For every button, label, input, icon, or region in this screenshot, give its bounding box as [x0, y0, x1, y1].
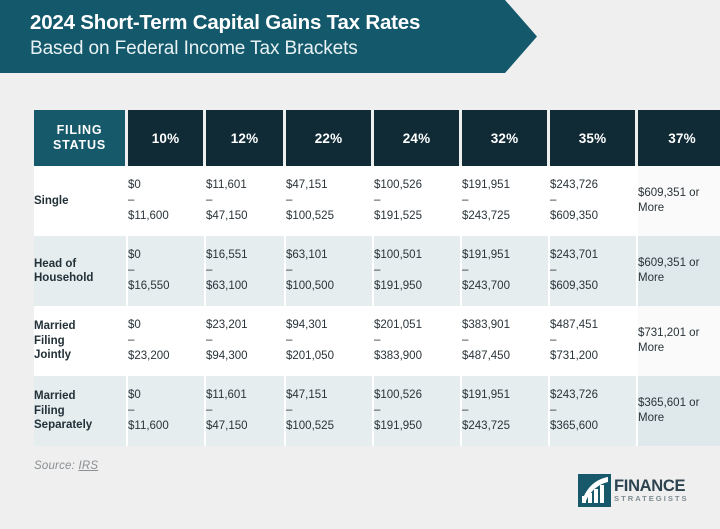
cell-mfs-22: $47,151 – $100,525 [286, 376, 374, 446]
range-low: $487,451 [550, 318, 636, 334]
table-row: Single $0 – $11,600 $11,601 – $47,150 $4… [34, 166, 720, 236]
range-dash: – [128, 193, 204, 209]
range-high: $47,150 [206, 419, 284, 435]
range-low: $63,101 [286, 248, 372, 264]
range-dash: – [286, 403, 372, 419]
column-header-rate-35: 35% [550, 110, 638, 166]
range-dash: – [550, 333, 636, 349]
cell-hoh-32: $191,951 – $243,700 [462, 236, 550, 306]
cell-single-24: $100,526 – $191,525 [374, 166, 462, 236]
range-dash: – [550, 193, 636, 209]
range-low: $243,726 [550, 178, 636, 194]
range-dash: – [374, 263, 460, 279]
range-low: $100,526 [374, 178, 460, 194]
range-high: $11,600 [128, 419, 204, 435]
cell-hoh-24: $100,501 – $191,950 [374, 236, 462, 306]
range-dash: – [550, 263, 636, 279]
logo-wordmark: FINANCE STRATEGISTS [614, 478, 689, 503]
range-high: $243,725 [462, 209, 548, 225]
source-link-irs[interactable]: IRS [78, 460, 98, 472]
range-high: $609,350 [550, 279, 636, 295]
range-high: $191,525 [374, 209, 460, 225]
range-low: $100,526 [374, 388, 460, 404]
header-row: FILING STATUS 10% 12% 22% 24% 32% 35% 37… [34, 110, 720, 166]
range-dash: – [286, 333, 372, 349]
range-high: $609,350 [550, 209, 636, 225]
range-low: $383,901 [462, 318, 548, 334]
table-body: Single $0 – $11,600 $11,601 – $47,150 $4… [34, 166, 720, 446]
table-row: Married Filing Separately $0 – $11,600 $… [34, 376, 720, 446]
range-low: $243,701 [550, 248, 636, 264]
table-row: Head of Household $0 – $16,550 $16,551 –… [34, 236, 720, 306]
cell-single-10: $0 – $11,600 [128, 166, 206, 236]
logo-mark-icon [578, 474, 611, 507]
cell-mfj-32: $383,901 – $487,450 [462, 306, 550, 376]
range-low: $191,951 [462, 388, 548, 404]
range-high: $191,950 [374, 419, 460, 435]
cell-mfj-37: $731,201 or More [638, 306, 720, 376]
page-title: 2024 Short-Term Capital Gains Tax Rates [30, 9, 540, 36]
row-label-line: Separately [34, 419, 92, 431]
range-low: $0 [128, 318, 204, 334]
range-high: $487,450 [462, 349, 548, 365]
cell-mfj-12: $23,201 – $94,300 [206, 306, 286, 376]
range-low: $11,601 [206, 178, 284, 194]
range-high: $365,600 [550, 419, 636, 435]
range-dash: – [206, 193, 284, 209]
range-low: $0 [128, 388, 204, 404]
cell-mfj-22: $94,301 – $201,050 [286, 306, 374, 376]
source-note: Source: IRS [34, 460, 98, 472]
row-label-line: Married [34, 320, 76, 332]
cell-single-22: $47,151 – $100,525 [286, 166, 374, 236]
logo-word-strategists: STRATEGISTS [614, 495, 689, 503]
table-header: FILING STATUS 10% 12% 22% 24% 32% 35% 37… [34, 110, 720, 166]
top-bracket-amount: $609,351 [638, 187, 686, 199]
row-label-line: Filing [34, 335, 65, 347]
column-header-rate-24: 24% [374, 110, 462, 166]
column-header-filing-status: FILING STATUS [34, 110, 128, 166]
range-high: $191,950 [374, 279, 460, 295]
top-bracket-amount: $731,201 [638, 327, 686, 339]
range-high: $243,725 [462, 419, 548, 435]
range-dash: – [128, 263, 204, 279]
cell-hoh-12: $16,551 – $63,100 [206, 236, 286, 306]
cell-mfj-10: $0 – $23,200 [128, 306, 206, 376]
range-high: $243,700 [462, 279, 548, 295]
row-label-line: Household [34, 272, 93, 284]
range-low: $191,951 [462, 178, 548, 194]
range-low: $11,601 [206, 388, 284, 404]
page-subtitle: Based on Federal Income Tax Brackets [30, 36, 540, 62]
column-header-rate-32: 32% [462, 110, 550, 166]
row-label-line: Head of [34, 258, 76, 270]
range-low: $191,951 [462, 248, 548, 264]
source-prefix: Source: [34, 460, 78, 472]
cell-mfs-37: $365,601 or More [638, 376, 720, 446]
range-high: $11,600 [128, 209, 204, 225]
range-low: $47,151 [286, 388, 372, 404]
row-label-line: Single [34, 195, 69, 207]
range-high: $100,525 [286, 419, 372, 435]
top-bracket-amount: $365,601 [638, 397, 686, 409]
tax-rate-table-wrapper: FILING STATUS 10% 12% 22% 24% 32% 35% 37… [34, 110, 686, 446]
range-dash: – [550, 403, 636, 419]
range-high: $383,900 [374, 349, 460, 365]
cell-single-32: $191,951 – $243,725 [462, 166, 550, 236]
cell-mfj-24: $201,051 – $383,900 [374, 306, 462, 376]
range-low: $94,301 [286, 318, 372, 334]
range-low: $0 [128, 178, 204, 194]
range-low: $23,201 [206, 318, 284, 334]
range-high: $16,550 [128, 279, 204, 295]
row-label-line: Jointly [34, 349, 71, 361]
infographic-page: 2024 Short-Term Capital Gains Tax Rates … [0, 0, 720, 529]
row-label-line: Filing [34, 405, 65, 417]
range-dash: – [206, 263, 284, 279]
range-low: $47,151 [286, 178, 372, 194]
range-dash: – [128, 403, 204, 419]
cell-mfs-24: $100,526 – $191,950 [374, 376, 462, 446]
range-dash: – [286, 263, 372, 279]
cell-single-12: $11,601 – $47,150 [206, 166, 286, 236]
cell-single-37: $609,351 or More [638, 166, 720, 236]
column-header-rate-10: 10% [128, 110, 206, 166]
cell-mfj-35: $487,451 – $731,200 [550, 306, 638, 376]
range-low: $243,726 [550, 388, 636, 404]
column-header-rate-12: 12% [206, 110, 286, 166]
cell-mfs-12: $11,601 – $47,150 [206, 376, 286, 446]
row-label-line: Married [34, 390, 76, 402]
row-label-married-filing-separately: Married Filing Separately [34, 376, 128, 446]
cell-mfs-32: $191,951 – $243,725 [462, 376, 550, 446]
range-high: $731,200 [550, 349, 636, 365]
range-high: $23,200 [128, 349, 204, 365]
range-dash: – [374, 193, 460, 209]
logo-word-finance: FINANCE [614, 478, 689, 495]
row-label-single: Single [34, 166, 128, 236]
filing-status-line-1: FILING [57, 123, 103, 137]
cell-hoh-35: $243,701 – $609,350 [550, 236, 638, 306]
filing-status-line-2: STATUS [53, 138, 106, 152]
range-high: $201,050 [286, 349, 372, 365]
cell-mfs-35: $243,726 – $365,600 [550, 376, 638, 446]
cell-mfs-10: $0 – $11,600 [128, 376, 206, 446]
tax-rate-table: FILING STATUS 10% 12% 22% 24% 32% 35% 37… [34, 110, 720, 446]
range-high: $100,525 [286, 209, 372, 225]
range-dash: – [374, 333, 460, 349]
range-high: $94,300 [206, 349, 284, 365]
cell-hoh-37: $609,351 or More [638, 236, 720, 306]
range-dash: – [206, 333, 284, 349]
column-header-rate-37: 37% [638, 110, 720, 166]
column-header-rate-22: 22% [286, 110, 374, 166]
finance-strategists-logo: FINANCE STRATEGISTS [578, 474, 689, 507]
range-dash: – [462, 333, 548, 349]
range-high: $63,100 [206, 279, 284, 295]
range-dash: – [206, 403, 284, 419]
range-low: $100,501 [374, 248, 460, 264]
cell-hoh-10: $0 – $16,550 [128, 236, 206, 306]
range-low: $201,051 [374, 318, 460, 334]
range-dash: – [462, 263, 548, 279]
row-label-head-of-household: Head of Household [34, 236, 128, 306]
row-label-married-filing-jointly: Married Filing Jointly [34, 306, 128, 376]
range-dash: – [286, 193, 372, 209]
range-high: $100,500 [286, 279, 372, 295]
range-low: $16,551 [206, 248, 284, 264]
range-dash: – [374, 403, 460, 419]
range-dash: – [462, 193, 548, 209]
top-bracket-amount: $609,351 [638, 257, 686, 269]
table-row: Married Filing Jointly $0 – $23,200 $23,… [34, 306, 720, 376]
range-dash: – [128, 333, 204, 349]
range-low: $0 [128, 248, 204, 264]
cell-single-35: $243,726 – $609,350 [550, 166, 638, 236]
range-dash: – [462, 403, 548, 419]
range-high: $47,150 [206, 209, 284, 225]
cell-hoh-22: $63,101 – $100,500 [286, 236, 374, 306]
header-banner: 2024 Short-Term Capital Gains Tax Rates … [0, 0, 540, 73]
